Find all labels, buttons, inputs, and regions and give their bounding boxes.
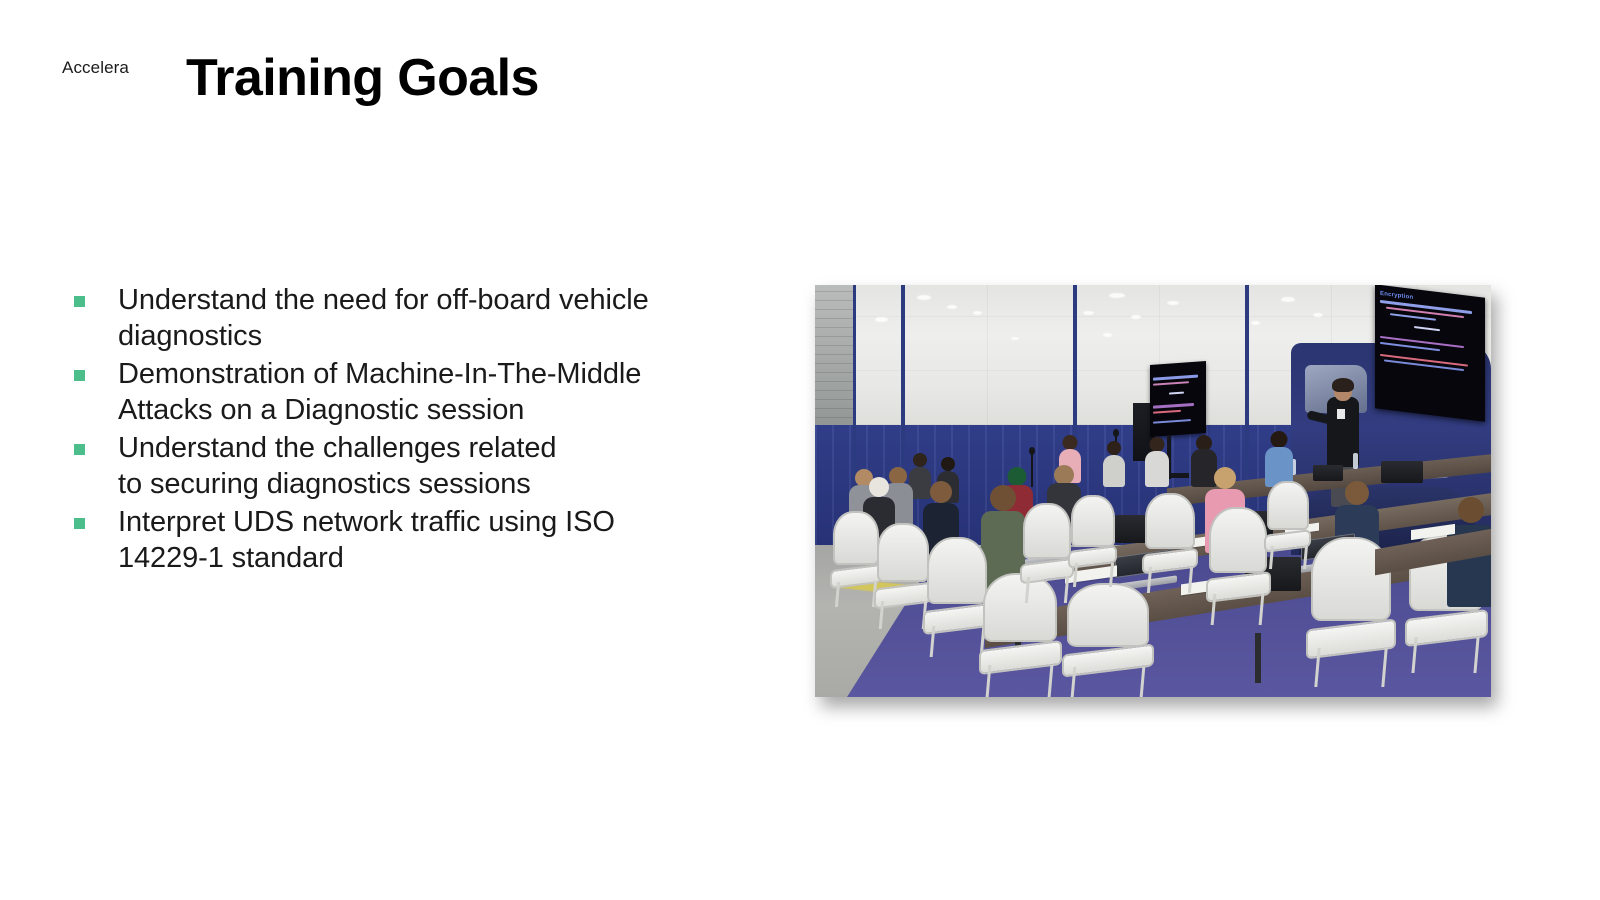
presenter-hair bbox=[1332, 378, 1354, 392]
list-item: Interpret UDS network traffic using ISO … bbox=[74, 505, 734, 576]
attendee-head bbox=[930, 481, 952, 503]
slide-canvas: Accelera Training Goals Understand the n… bbox=[0, 0, 1600, 900]
bullet-square-icon bbox=[74, 444, 85, 455]
ceiling-light bbox=[1011, 337, 1019, 340]
water-bottle bbox=[1353, 453, 1358, 469]
list-item-label: Understand the challenges related to sec… bbox=[118, 432, 556, 500]
folding-chair bbox=[927, 537, 987, 657]
folding-chair bbox=[833, 511, 879, 607]
list-item-label: Understand the need for off-board vehicl… bbox=[118, 284, 649, 352]
monitor-text-line bbox=[1153, 419, 1191, 424]
bullet-square-icon bbox=[74, 518, 85, 529]
chair-back bbox=[1145, 493, 1195, 549]
chair-legs bbox=[835, 582, 878, 607]
attendee-head bbox=[1458, 497, 1484, 523]
list-item: Understand the need for off-board vehicl… bbox=[74, 283, 734, 354]
list-item: Understand the challenges related to sec… bbox=[74, 431, 734, 502]
chair-legs bbox=[1269, 546, 1308, 569]
page-title: Training Goals bbox=[186, 48, 539, 108]
folding-chair bbox=[1145, 493, 1195, 593]
microphone-head bbox=[1113, 429, 1119, 437]
attendee-body bbox=[1103, 455, 1125, 487]
chair-back bbox=[833, 511, 879, 565]
ceiling-light bbox=[973, 311, 982, 315]
attendee-head bbox=[869, 477, 889, 497]
screen-text-line bbox=[1414, 326, 1440, 331]
chair-back bbox=[1067, 583, 1149, 647]
attendee-head bbox=[913, 453, 927, 467]
presentation-screen: Encryption bbox=[1375, 285, 1485, 422]
chair-back bbox=[1267, 481, 1309, 530]
chair-legs bbox=[1025, 577, 1070, 603]
chair-back bbox=[1209, 507, 1267, 573]
attendee-head bbox=[1150, 437, 1165, 452]
monitor-text-line bbox=[1153, 410, 1181, 414]
folding-chair bbox=[877, 523, 929, 629]
secondary-monitor bbox=[1150, 361, 1206, 437]
list-item-label: Interpret UDS network traffic using ISO … bbox=[118, 506, 615, 574]
attendee-body bbox=[1145, 451, 1169, 487]
chair-legs bbox=[986, 665, 1054, 697]
chair-back bbox=[927, 537, 987, 604]
equipment-case bbox=[1313, 465, 1343, 481]
monitor-text-line bbox=[1153, 403, 1194, 408]
ceiling-light bbox=[1167, 301, 1179, 305]
folding-chair bbox=[1267, 481, 1309, 569]
attendee-head bbox=[1271, 431, 1288, 448]
chair-legs bbox=[929, 626, 985, 657]
monitor-text-line bbox=[1169, 392, 1184, 395]
chair-legs bbox=[1211, 594, 1265, 625]
monitor-slide-title bbox=[1153, 365, 1203, 374]
ceiling-light bbox=[875, 317, 888, 322]
folding-chair bbox=[1071, 495, 1115, 587]
folding-chair bbox=[1067, 583, 1149, 697]
chair-back bbox=[1023, 503, 1071, 559]
ceiling-light bbox=[1131, 315, 1141, 319]
chair-back bbox=[1071, 495, 1115, 547]
attendee bbox=[1265, 431, 1293, 487]
ceiling-light bbox=[1251, 321, 1260, 325]
attendee bbox=[1103, 441, 1125, 487]
training-session-photo: Encryption bbox=[815, 285, 1491, 697]
presenter-badge bbox=[1337, 409, 1345, 419]
chair-legs bbox=[879, 601, 927, 629]
attendee-head bbox=[1214, 467, 1236, 489]
bullet-square-icon bbox=[74, 296, 85, 307]
attendee-head bbox=[1063, 435, 1078, 450]
monitor-text-line bbox=[1153, 375, 1198, 380]
chair-back bbox=[877, 523, 929, 582]
attendee bbox=[1145, 437, 1169, 487]
training-goals-list: Understand the need for off-board vehicl… bbox=[74, 283, 734, 579]
ceiling-light bbox=[1313, 313, 1323, 317]
attendee-head bbox=[1008, 467, 1027, 486]
screen-text-line bbox=[1384, 360, 1464, 372]
ceiling-light bbox=[1103, 333, 1112, 337]
ceiling-light bbox=[1281, 297, 1295, 302]
folding-chair bbox=[1209, 507, 1267, 625]
ceiling-light bbox=[1109, 293, 1125, 298]
chair-legs bbox=[1314, 648, 1388, 687]
curtain-pole bbox=[853, 285, 856, 481]
ceiling-light bbox=[1083, 311, 1094, 315]
brand-logo-text: Accelera bbox=[62, 58, 129, 78]
folding-chair bbox=[1023, 503, 1071, 603]
chair-legs bbox=[1073, 563, 1114, 587]
attendee-head bbox=[1107, 441, 1121, 455]
chair-legs bbox=[1412, 637, 1480, 673]
photo-scene: Encryption bbox=[815, 285, 1491, 697]
attendee-head bbox=[941, 457, 955, 471]
attendee-head bbox=[1345, 481, 1369, 505]
monitor-text-line bbox=[1153, 381, 1189, 386]
list-item: Demonstration of Machine-In-The-Middle A… bbox=[74, 357, 734, 428]
table-leg bbox=[1255, 633, 1261, 683]
attendee-head bbox=[990, 485, 1016, 511]
ceiling-light bbox=[917, 295, 931, 300]
chair-legs bbox=[1071, 667, 1146, 697]
bullet-square-icon bbox=[74, 370, 85, 381]
chair-legs bbox=[1147, 567, 1193, 593]
microphone-head bbox=[1029, 447, 1035, 455]
attendee-head bbox=[1054, 465, 1074, 485]
equipment-case bbox=[1381, 461, 1423, 483]
ceiling-light bbox=[947, 305, 957, 309]
list-item-label: Demonstration of Machine-In-The-Middle A… bbox=[118, 358, 641, 426]
